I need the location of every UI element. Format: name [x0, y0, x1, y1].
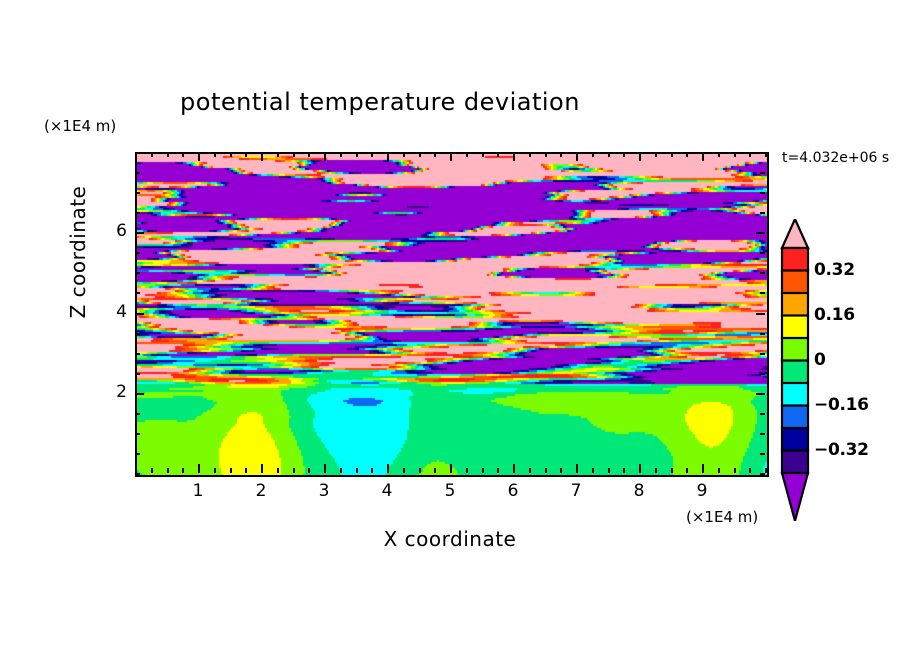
x-tick-top	[340, 152, 342, 157]
x-tick-top	[529, 152, 531, 157]
x-tick-label: 5	[430, 481, 470, 501]
colorbar-tick-label: 0.16	[814, 305, 855, 325]
x-tick-top	[308, 152, 310, 157]
x-tick	[718, 468, 720, 473]
y-tick	[135, 212, 140, 214]
x-tick-top	[623, 152, 625, 157]
y-tick-right	[760, 433, 765, 435]
x-tick	[497, 468, 499, 473]
x-tick-top	[261, 152, 263, 161]
x-tick-top	[497, 152, 499, 157]
x-tick-top	[686, 152, 688, 157]
y-tick	[135, 413, 140, 415]
x-tick	[214, 468, 216, 473]
x-tick	[592, 468, 594, 473]
z-axis-unit-label: (×1E4 m)	[44, 117, 116, 135]
x-tick-top	[198, 152, 200, 161]
x-tick-top	[576, 152, 578, 161]
figure-canvas: potential temperature deviation (×1E4 m)…	[0, 0, 904, 654]
y-tick	[135, 192, 140, 194]
x-tick	[639, 464, 641, 473]
colorbar	[779, 219, 811, 521]
x-tick-label: 8	[619, 481, 659, 501]
x-tick-label: 6	[493, 481, 533, 501]
x-tick-top	[749, 152, 751, 157]
y-axis-title: Z coordinate	[66, 152, 90, 352]
x-tick-label: 1	[178, 481, 218, 501]
x-tick	[261, 464, 263, 473]
y-tick-right	[760, 453, 765, 455]
x-tick-top	[419, 152, 421, 157]
x-tick-top	[608, 152, 610, 157]
y-tick	[135, 333, 140, 335]
x-tick	[151, 468, 153, 473]
x-tick	[702, 464, 704, 473]
y-tick	[135, 232, 144, 234]
colorbar-band	[782, 406, 808, 429]
x-tick	[340, 468, 342, 473]
x-tick	[293, 468, 295, 473]
x-tick	[466, 468, 468, 473]
y-tick	[135, 152, 140, 154]
y-tick	[135, 292, 140, 294]
x-tick	[482, 468, 484, 473]
y-tick-right	[760, 353, 765, 355]
colorbar-tick-label: 0.32	[814, 260, 855, 280]
colorbar-tick-label: −0.32	[814, 440, 869, 460]
x-tick-top	[371, 152, 373, 157]
y-tick-right	[760, 212, 765, 214]
y-tick-right	[756, 313, 765, 315]
colorbar-band	[782, 248, 808, 271]
y-tick	[135, 453, 140, 455]
x-tick	[655, 468, 657, 473]
x-tick	[545, 468, 547, 473]
x-tick-top	[151, 152, 153, 157]
colorbar-band	[782, 451, 808, 474]
x-tick	[419, 468, 421, 473]
x-tick	[167, 468, 169, 473]
y-tick-label: 6	[87, 221, 127, 241]
x-tick	[356, 468, 358, 473]
colorbar-band	[782, 338, 808, 361]
y-tick-right	[760, 192, 765, 194]
y-tick-right	[760, 292, 765, 294]
page-title: potential temperature deviation	[0, 88, 760, 116]
x-tick-top	[293, 152, 295, 157]
y-tick	[135, 252, 140, 254]
y-tick-right	[760, 252, 765, 254]
x-tick	[671, 468, 673, 473]
y-tick	[135, 373, 140, 375]
colorbar-band	[782, 271, 808, 294]
x-axis-unit-label: (×1E4 m)	[686, 508, 758, 526]
x-tick-top	[765, 152, 767, 157]
y-tick-label: 4	[87, 302, 127, 322]
x-tick	[749, 468, 751, 473]
x-tick-top	[167, 152, 169, 157]
x-tick-top	[560, 152, 562, 157]
x-tick-top	[450, 152, 452, 161]
y-tick-label: 2	[87, 382, 127, 402]
x-tick	[230, 468, 232, 473]
x-tick	[623, 468, 625, 473]
time-annotation: t=4.032e+06 s	[782, 150, 889, 166]
x-tick	[608, 468, 610, 473]
y-tick	[135, 393, 144, 395]
y-tick-right	[756, 232, 765, 234]
x-tick-top	[434, 152, 436, 157]
x-tick-top	[277, 152, 279, 157]
x-tick	[324, 464, 326, 473]
x-tick	[182, 468, 184, 473]
x-tick-top	[545, 152, 547, 157]
y-tick-right	[760, 373, 765, 375]
x-axis-title: X coordinate	[135, 527, 765, 551]
colorbar-over-arrow	[782, 219, 808, 248]
x-tick-top	[655, 152, 657, 157]
x-tick	[513, 464, 515, 473]
x-tick	[734, 468, 736, 473]
x-tick-label: 2	[241, 481, 281, 501]
contour-plot-area	[135, 152, 769, 477]
y-tick	[135, 353, 140, 355]
colorbar-tick-label: 0	[814, 350, 826, 370]
x-tick-top	[403, 152, 405, 157]
colorbar-band	[782, 361, 808, 384]
colorbar-band	[782, 428, 808, 451]
x-tick-top	[324, 152, 326, 161]
y-tick	[135, 272, 140, 274]
x-tick-label: 9	[682, 481, 722, 501]
x-tick-label: 4	[367, 481, 407, 501]
x-tick-top	[230, 152, 232, 157]
colorbar-under-arrow	[782, 473, 808, 521]
x-tick-top	[734, 152, 736, 157]
x-tick	[576, 464, 578, 473]
x-tick	[529, 468, 531, 473]
x-tick	[403, 468, 405, 473]
colorbar-band	[782, 293, 808, 316]
x-tick-label: 7	[556, 481, 596, 501]
x-tick-top	[702, 152, 704, 161]
colorbar-band	[782, 383, 808, 406]
y-tick-right	[760, 413, 765, 415]
y-tick-right	[760, 333, 765, 335]
x-tick-top	[387, 152, 389, 161]
x-tick-top	[245, 152, 247, 157]
y-tick-right	[760, 152, 765, 154]
x-tick-top	[592, 152, 594, 157]
y-tick	[135, 313, 144, 315]
x-tick	[560, 468, 562, 473]
x-tick-top	[182, 152, 184, 157]
y-tick-right	[760, 272, 765, 274]
x-tick	[308, 468, 310, 473]
y-tick-right	[756, 393, 765, 395]
x-tick	[387, 464, 389, 473]
x-tick-label: 3	[304, 481, 344, 501]
y-tick-right	[760, 172, 765, 174]
x-tick	[245, 468, 247, 473]
x-tick-top	[356, 152, 358, 157]
y-tick	[135, 433, 140, 435]
x-tick	[371, 468, 373, 473]
x-tick	[434, 468, 436, 473]
colorbar-tick-labels: 0.320.160−0.16−0.32	[812, 219, 892, 521]
y-tick	[135, 172, 140, 174]
temperature-deviation-field	[137, 154, 767, 475]
y-tick-right	[760, 473, 765, 475]
x-tick-top	[513, 152, 515, 161]
x-tick	[765, 468, 767, 473]
x-tick	[450, 464, 452, 473]
colorbar-tick-label: −0.16	[814, 395, 869, 415]
y-tick	[135, 473, 140, 475]
x-tick-top	[214, 152, 216, 157]
x-tick-top	[639, 152, 641, 161]
x-tick-top	[671, 152, 673, 157]
x-tick	[277, 468, 279, 473]
x-tick-top	[482, 152, 484, 157]
colorbar-band	[782, 316, 808, 339]
x-tick-top	[466, 152, 468, 157]
x-tick	[686, 468, 688, 473]
x-tick	[198, 464, 200, 473]
x-tick-top	[718, 152, 720, 157]
